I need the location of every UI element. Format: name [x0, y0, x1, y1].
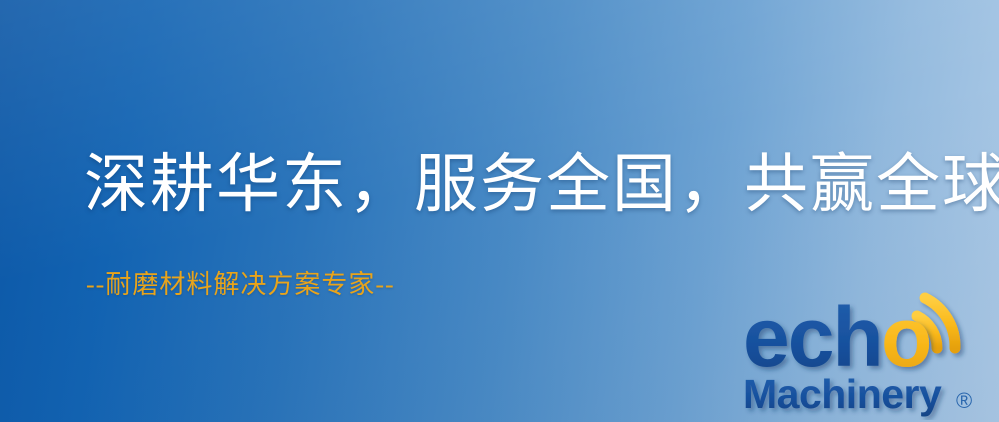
banner-subtitle: --耐磨材料解决方案专家-- — [86, 264, 395, 301]
logo-wordmark-gold: o — [881, 290, 932, 384]
logo-trademark: ® — [956, 388, 972, 413]
banner-headline: 深耕华东，服务全国，共赢全球 — [84, 148, 999, 222]
promo-banner: 深耕华东，服务全国，共赢全球 --耐磨材料解决方案专家-- — [0, 0, 999, 422]
logo-tagline: Machinery — [743, 371, 942, 417]
logo-wordmark-blue: ech — [743, 290, 882, 384]
echo-machinery-logo: ech o Machinery ® — [741, 290, 993, 420]
